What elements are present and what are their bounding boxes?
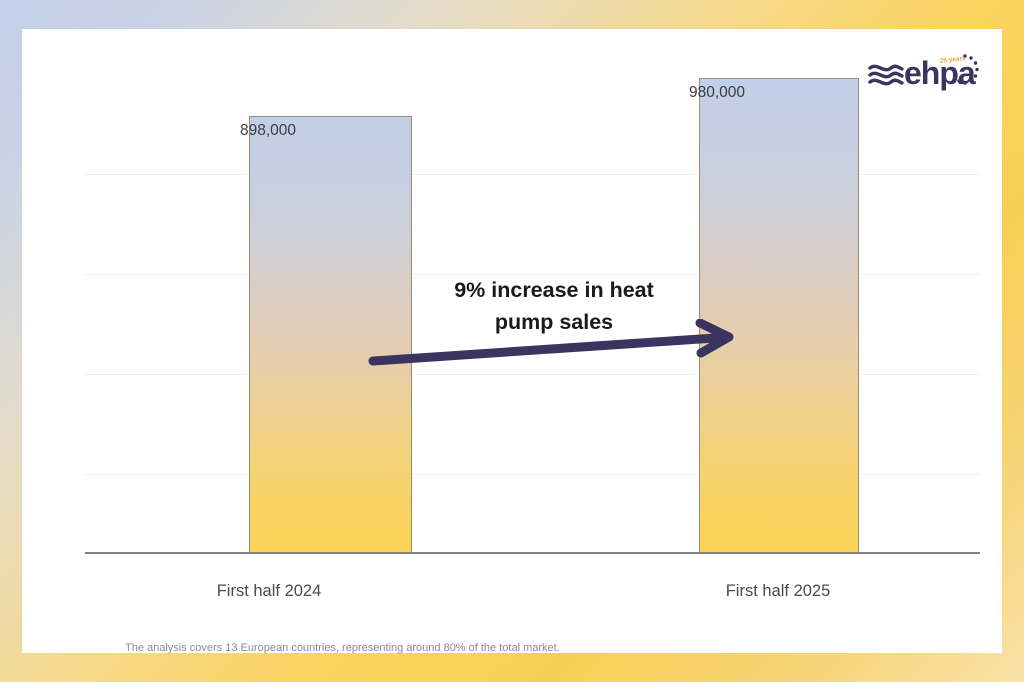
page-frame: ehpa 25 years (0, 0, 1024, 682)
footnote-text: The analysis covers 13 European countrie… (125, 642, 560, 654)
bar-value-label-2025: 980,000 (627, 84, 807, 102)
bar-first-half-2025[interactable] (699, 78, 859, 553)
annotation-arrow-icon (367, 319, 747, 369)
chart-card: ehpa 25 years (22, 29, 1002, 653)
x-axis-line (85, 552, 980, 554)
bar-value-label-2024: 898,000 (178, 122, 358, 140)
annotation-line-1: 9% increase in heat (418, 274, 690, 306)
category-label-first-half-2024: First half 2024 (149, 582, 389, 601)
category-label-first-half-2025: First half 2025 (658, 582, 898, 601)
